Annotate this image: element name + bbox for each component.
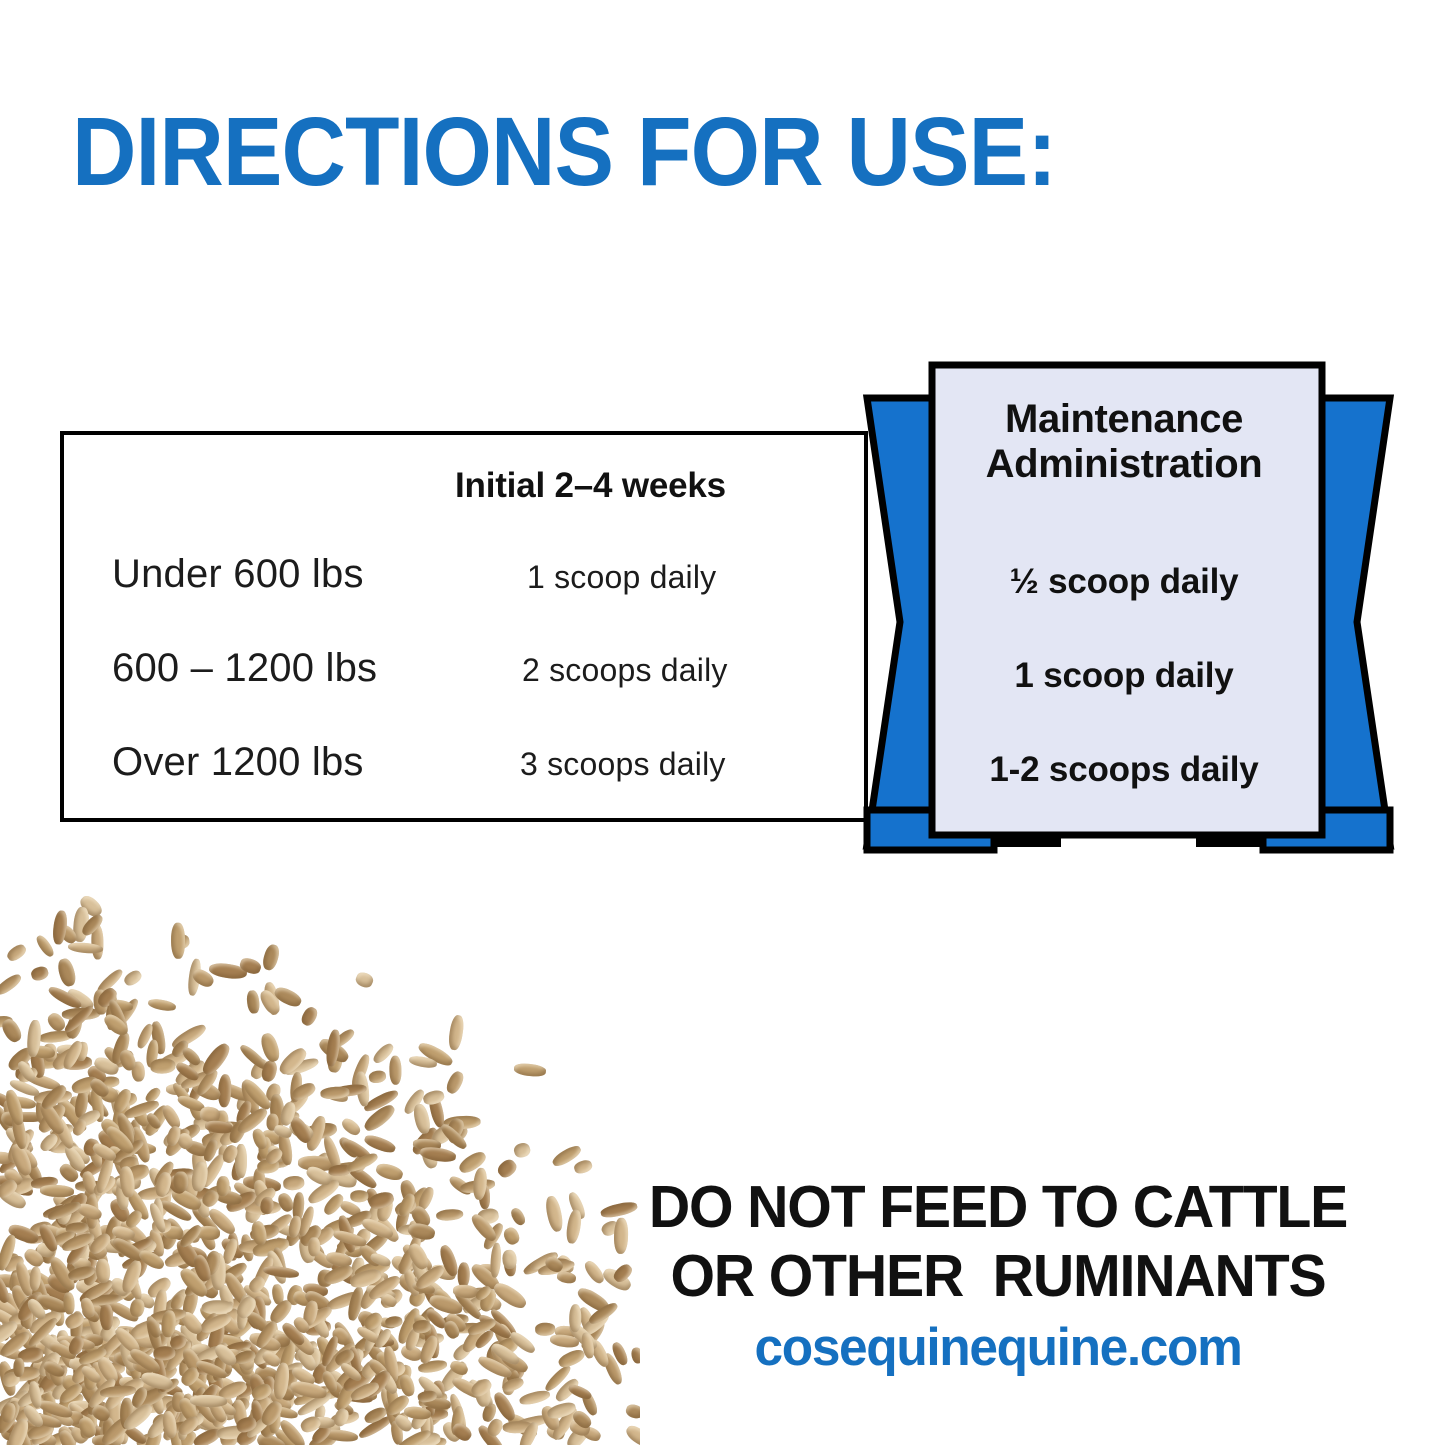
pellet	[152, 1345, 175, 1361]
pellet	[501, 1250, 517, 1270]
pellet	[406, 1221, 436, 1242]
pellet	[535, 1322, 556, 1336]
pellet	[624, 1422, 640, 1445]
pellet	[63, 1292, 75, 1315]
page-title: DIRECTIONS FOR USE:	[72, 103, 1056, 200]
pellet	[421, 1089, 445, 1107]
warning-notice: DO NOT FEED TO CATTLE OR OTHER RUMINANTS…	[618, 1173, 1378, 1378]
directions-for-use-panel: DIRECTIONS FOR USE: Initial 2–4 weeks Un…	[0, 0, 1445, 1445]
pellet	[260, 943, 281, 972]
pellet	[5, 942, 28, 963]
pellet	[564, 1209, 582, 1244]
pellet	[0, 1016, 24, 1044]
pellet	[509, 1206, 528, 1227]
pellet	[173, 1171, 188, 1191]
pellet	[501, 1225, 521, 1247]
pellet	[150, 1058, 176, 1074]
pellet	[384, 1314, 403, 1328]
warning-line-2: OR OTHER RUMINANTS	[629, 1242, 1366, 1311]
pellet	[299, 1005, 319, 1028]
pellet	[543, 1194, 564, 1233]
website-link[interactable]: cosequinequine.com	[629, 1317, 1366, 1378]
maintenance-panel	[932, 365, 1322, 835]
pellet	[436, 1208, 464, 1222]
pellet	[29, 964, 49, 982]
maintenance-ribbon-graphic	[856, 352, 1401, 862]
table-row-dose: 1 scoop daily	[527, 559, 716, 596]
pellet	[444, 1069, 465, 1095]
table-row-dose: 2 scoops daily	[522, 652, 728, 689]
table-row-weight: Over 1200 lbs	[112, 740, 364, 785]
table-row-weight: Under 600 lbs	[112, 552, 364, 597]
pellet	[246, 990, 260, 1014]
pellet	[557, 1347, 587, 1370]
pellet	[350, 1190, 368, 1202]
pellet	[309, 1237, 321, 1256]
pellet	[148, 998, 178, 1013]
pellet	[495, 1157, 519, 1180]
pellet	[518, 1389, 551, 1407]
pellet	[625, 1403, 640, 1421]
pellet	[354, 970, 375, 989]
pellet	[189, 1394, 227, 1407]
pellet	[375, 1161, 405, 1182]
table-row-dose: 3 scoops daily	[520, 746, 726, 783]
pellet	[12, 1358, 24, 1378]
feed-pellets-image	[0, 893, 640, 1445]
pellet	[339, 1116, 363, 1138]
dosage-table-column-header: Initial 2–4 weeks	[455, 466, 726, 506]
pellet	[368, 1070, 387, 1085]
pellet	[40, 1184, 74, 1198]
pellet	[513, 1062, 546, 1077]
pellet	[56, 957, 78, 988]
pellet	[512, 1141, 531, 1159]
pellet	[171, 923, 185, 959]
pellet	[573, 1159, 594, 1176]
warning-line-1: DO NOT FEED TO CATTLE	[629, 1173, 1366, 1242]
pellet	[0, 971, 23, 997]
pellet	[447, 1015, 465, 1051]
pellet	[389, 1055, 402, 1084]
table-row-weight: 600 – 1200 lbs	[112, 646, 377, 691]
pellet	[568, 1304, 581, 1332]
pellet	[282, 1175, 304, 1191]
pellet	[201, 1299, 232, 1314]
pellet	[122, 968, 144, 988]
